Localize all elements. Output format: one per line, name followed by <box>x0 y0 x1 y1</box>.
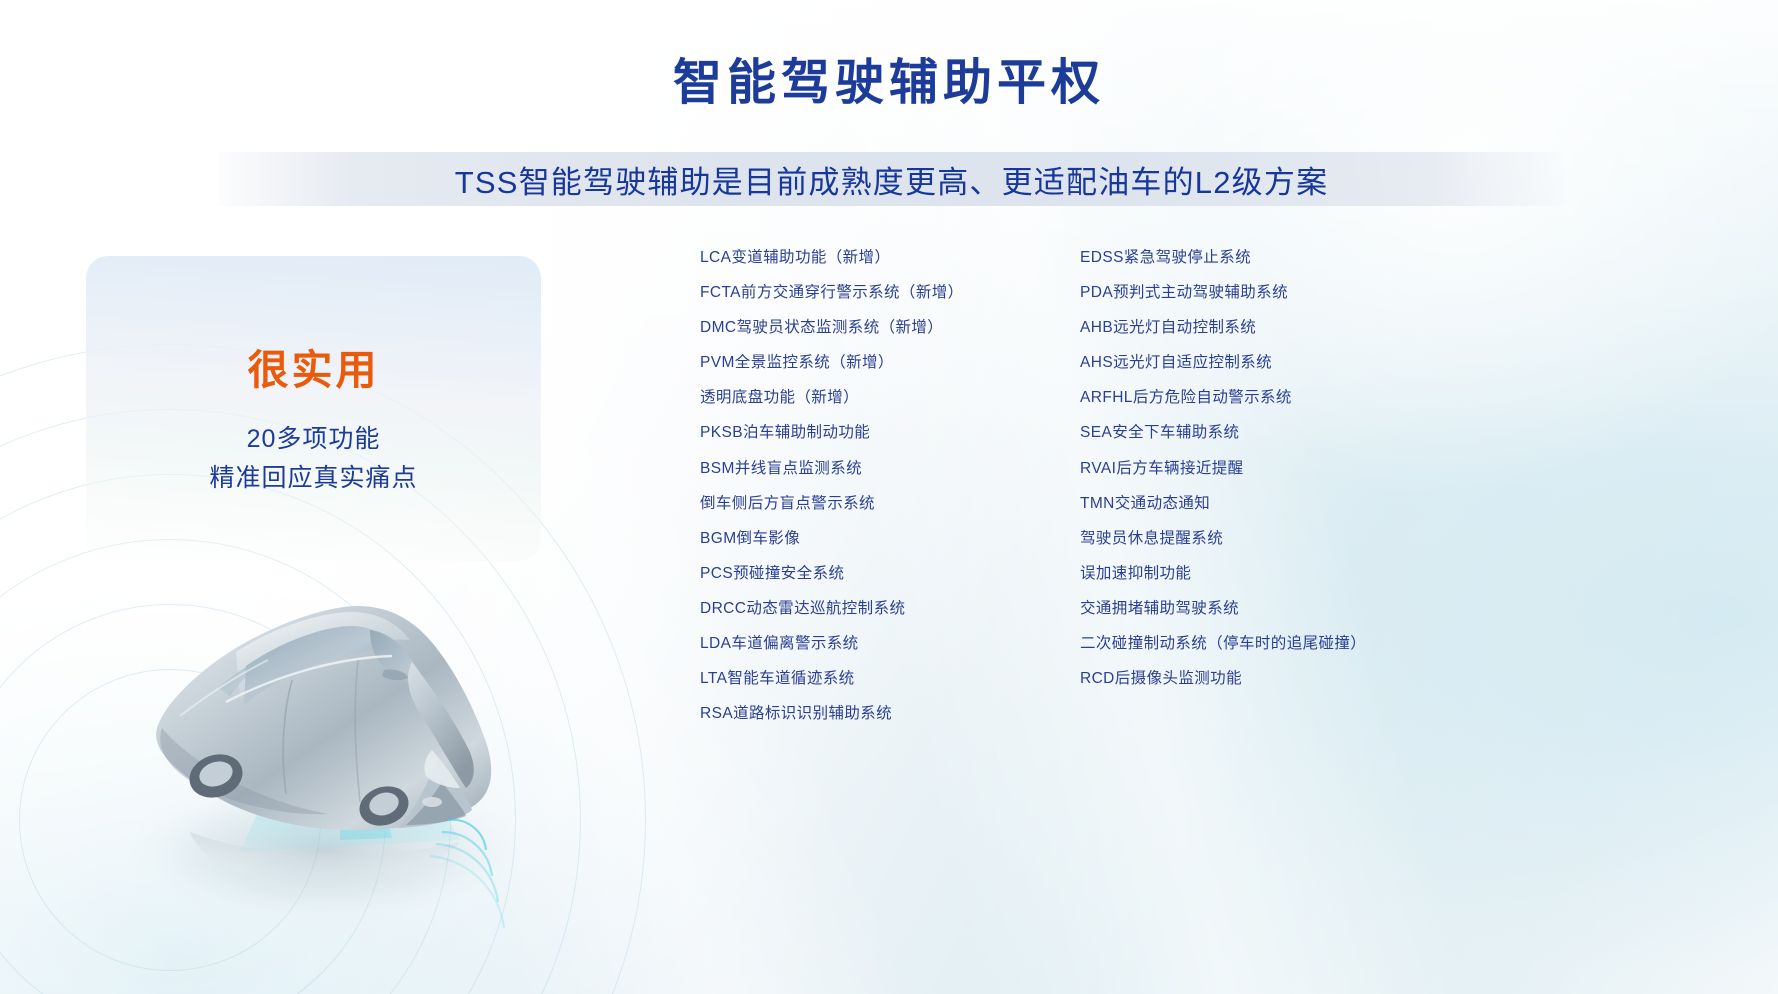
highlight-card-heading: 很实用 <box>248 346 380 395</box>
feature-item: FCTA前方交通穿行警示系统（新增） <box>700 285 964 301</box>
feature-item: PCS预碰撞安全系统 <box>700 566 964 582</box>
feature-item: EDSS紧急驾驶停止系统 <box>1080 250 1366 266</box>
feature-item: 驾驶员休息提醒系统 <box>1080 531 1366 547</box>
feature-item: DMC驾驶员状态监测系统（新增） <box>700 320 964 336</box>
feature-item: 倒车侧后方盲点警示系统 <box>700 496 964 512</box>
feature-item: 误加速抑制功能 <box>1080 566 1366 582</box>
feature-item: BGM倒车影像 <box>700 531 964 547</box>
feature-item: RCD后摄像头监测功能 <box>1080 671 1366 687</box>
feature-item: ARFHL后方危险自动警示系统 <box>1080 390 1366 406</box>
highlight-card-content: 很实用 20多项功能 精准回应真实痛点 <box>86 256 541 561</box>
feature-item: RSA道路标识识别辅助系统 <box>700 706 964 722</box>
highlight-card-line-2: 精准回应真实痛点 <box>209 459 417 499</box>
vehicle-illustration <box>40 520 600 980</box>
feature-column-right: EDSS紧急驾驶停止系统 PDA预判式主动驾驶辅助系统 AHB远光灯自动控制系统… <box>1080 250 1366 706</box>
feature-item: AHS远光灯自适应控制系统 <box>1080 355 1366 371</box>
feature-item: LCA变道辅助功能（新增） <box>700 250 964 266</box>
feature-item: PDA预判式主动驾驶辅助系统 <box>1080 285 1366 301</box>
feature-item: RVAI后方车辆接近提醒 <box>1080 461 1366 477</box>
brand-emblem <box>422 797 442 807</box>
feature-column-left: LCA变道辅助功能（新增） FCTA前方交通穿行警示系统（新增） DMC驾驶员状… <box>700 250 964 741</box>
slide-title: 智能驾驶辅助平权 <box>0 54 1778 113</box>
subtitle-text: TSS智能驾驶辅助是目前成熟度更高、更适配油车的L2级方案 <box>219 152 1564 206</box>
feature-item: LDA车道偏离警示系统 <box>700 636 964 652</box>
feature-item: LTA智能车道循迹系统 <box>700 671 964 687</box>
feature-item: PKSB泊车辅助制动功能 <box>700 425 964 441</box>
highlight-card-line-1: 20多项功能 <box>247 420 381 460</box>
feature-item: 透明底盘功能（新增） <box>700 390 964 406</box>
feature-item: BSM并线盲点监测系统 <box>700 461 964 477</box>
feature-item: SEA安全下车辅助系统 <box>1080 425 1366 441</box>
feature-item: PVM全景监控系统（新增） <box>700 355 964 371</box>
feature-item: 二次碰撞制动系统（停车时的追尾碰撞） <box>1080 636 1366 652</box>
feature-item: 交通拥堵辅助驾驶系统 <box>1080 601 1366 617</box>
feature-item: AHB远光灯自动控制系统 <box>1080 320 1366 336</box>
feature-item: DRCC动态雷达巡航控制系统 <box>700 601 964 617</box>
feature-item: TMN交通动态通知 <box>1080 496 1366 512</box>
